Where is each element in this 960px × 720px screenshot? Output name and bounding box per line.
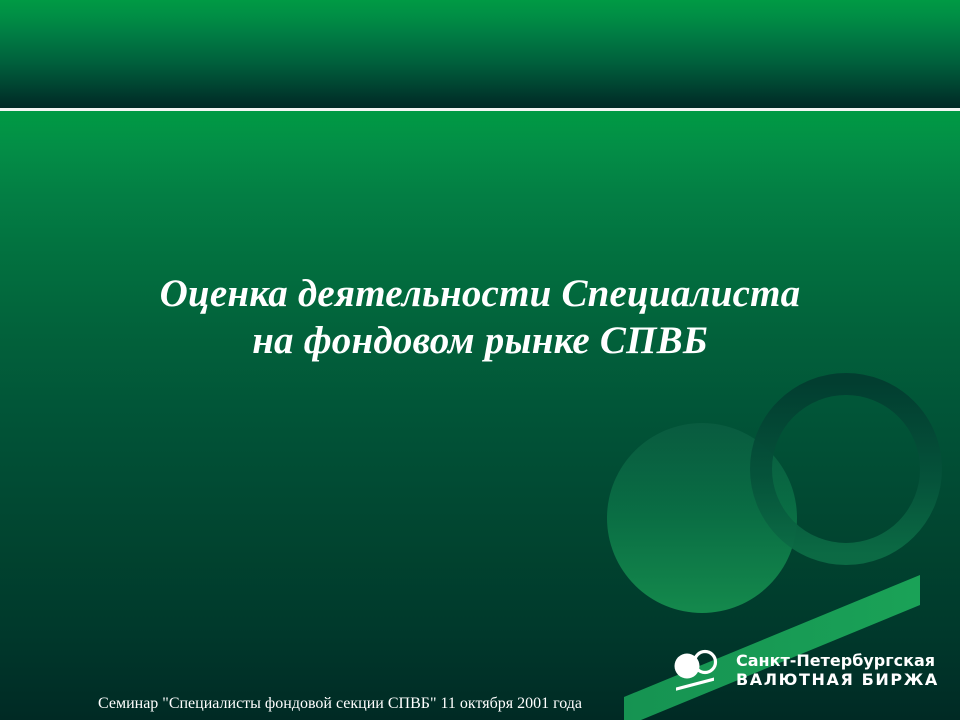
brand-logo: Санкт-Петербургская ВАЛЮТНАЯ БИРЖА (668, 646, 952, 694)
header-divider-line (0, 108, 960, 111)
spcex-circles-logo-icon (668, 649, 730, 691)
brand-text: Санкт-Петербургская ВАЛЮТНАЯ БИРЖА (736, 651, 939, 689)
page-title: Оценка деятельности Специалиста на фондо… (60, 270, 900, 364)
presentation-slide: Оценка деятельности Специалиста на фондо… (0, 0, 960, 720)
page-title-line-2: на фондовом рынке СПВБ (60, 317, 900, 364)
footer-caption: Семинар "Специалисты фондовой секции СПВ… (0, 694, 680, 714)
page-title-line-1: Оценка деятельности Специалиста (60, 270, 900, 317)
logo-underline-icon (676, 678, 714, 691)
body-gradient-background (0, 111, 960, 720)
brand-name-line-1: Санкт-Петербургская (736, 651, 939, 670)
brand-name-line-2: ВАЛЮТНАЯ БИРЖА (736, 670, 939, 689)
header-gradient-band (0, 0, 960, 108)
